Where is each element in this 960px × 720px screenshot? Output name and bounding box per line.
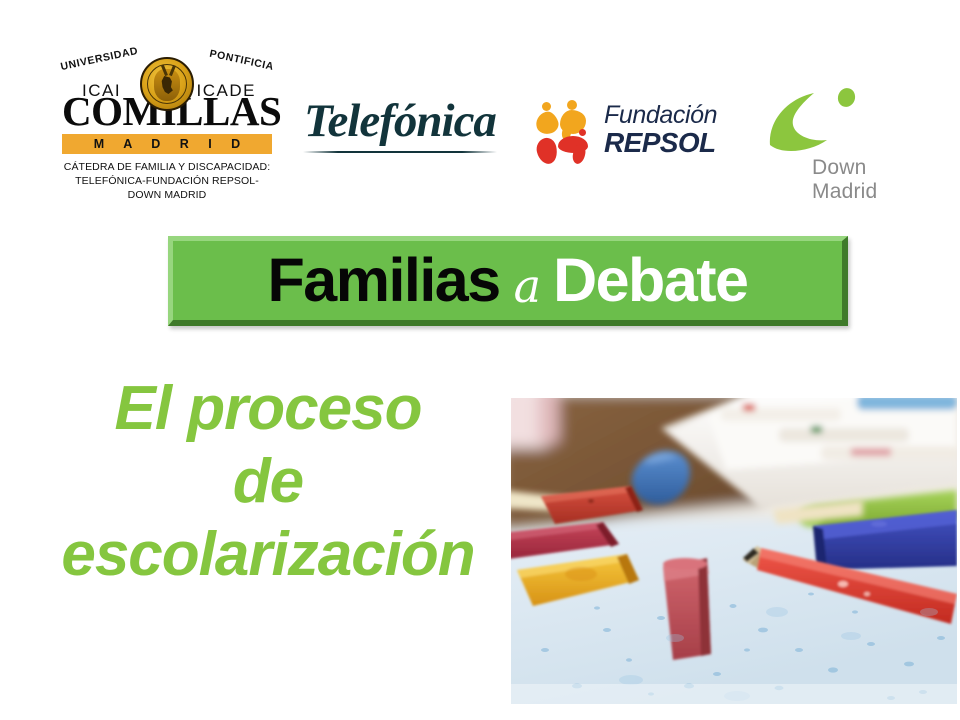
presentation-slide: UNIVERSIDAD PONTIFICIA ICAI ICADE COMILL…	[0, 0, 960, 720]
slide-title: El proceso de escolarización	[28, 372, 508, 591]
down-madrid-logo: Down Madrid	[760, 82, 900, 212]
repsol-wordmark: Fundación REPSOL	[604, 102, 717, 158]
down-madrid-wordmark: Down Madrid	[812, 156, 877, 203]
telefonica-wordmark: Telefónica	[300, 98, 500, 145]
catedra-caption-line-1: CÁTEDRA DE FAMILIA Y DISCAPACIDAD:	[62, 161, 272, 175]
telefonica-underline	[303, 151, 497, 153]
comillas-pontificia-label: PONTIFICIA	[208, 48, 275, 73]
catedra-caption-line-3: DOWN MADRID	[62, 189, 272, 203]
comillas-icai-label: ICAI	[82, 81, 121, 101]
fundacion-repsol-logo: Fundación REPSOL	[534, 100, 734, 170]
banner-word-a: a	[514, 263, 541, 309]
comillas-seal-icon	[140, 57, 194, 111]
repsol-figures-icon	[534, 100, 598, 166]
comillas-universidad-label: UNIVERSIDAD	[60, 45, 140, 73]
slide-title-line-2: de	[28, 445, 508, 518]
repsol-name-label: REPSOL	[604, 128, 717, 157]
comillas-madrid-bar: M A D R I D	[62, 134, 272, 154]
familias-a-debate-banner: Familias a Debate	[168, 236, 848, 326]
repsol-fundacion-label: Fundación	[604, 102, 717, 128]
comillas-crest-row: UNIVERSIDAD PONTIFICIA ICAI ICADE	[62, 55, 272, 91]
down-label: Down	[812, 156, 877, 180]
madrid-label: Madrid	[812, 180, 877, 204]
banner-word-familias: Familias	[268, 250, 500, 311]
comillas-logo: UNIVERSIDAD PONTIFICIA ICAI ICADE COMILL…	[62, 55, 272, 203]
slide-title-line-3: escolarización	[28, 518, 508, 591]
telefonica-logo: Telefónica	[300, 98, 500, 153]
comillas-icade-label: ICADE	[197, 81, 256, 101]
catedra-caption-line-2: TELEFÓNICA-FUNDACIÓN REPSOL-	[62, 175, 272, 189]
slide-title-line-1: El proceso	[28, 372, 508, 445]
crayons-photo	[511, 398, 957, 704]
catedra-caption: CÁTEDRA DE FAMILIA Y DISCAPACIDAD: TELEF…	[62, 161, 272, 203]
crayons-photo-image	[511, 398, 957, 704]
sponsor-logo-bar: UNIVERSIDAD PONTIFICIA ICAI ICADE COMILL…	[0, 0, 960, 225]
banner-word-debate: Debate	[553, 250, 747, 311]
